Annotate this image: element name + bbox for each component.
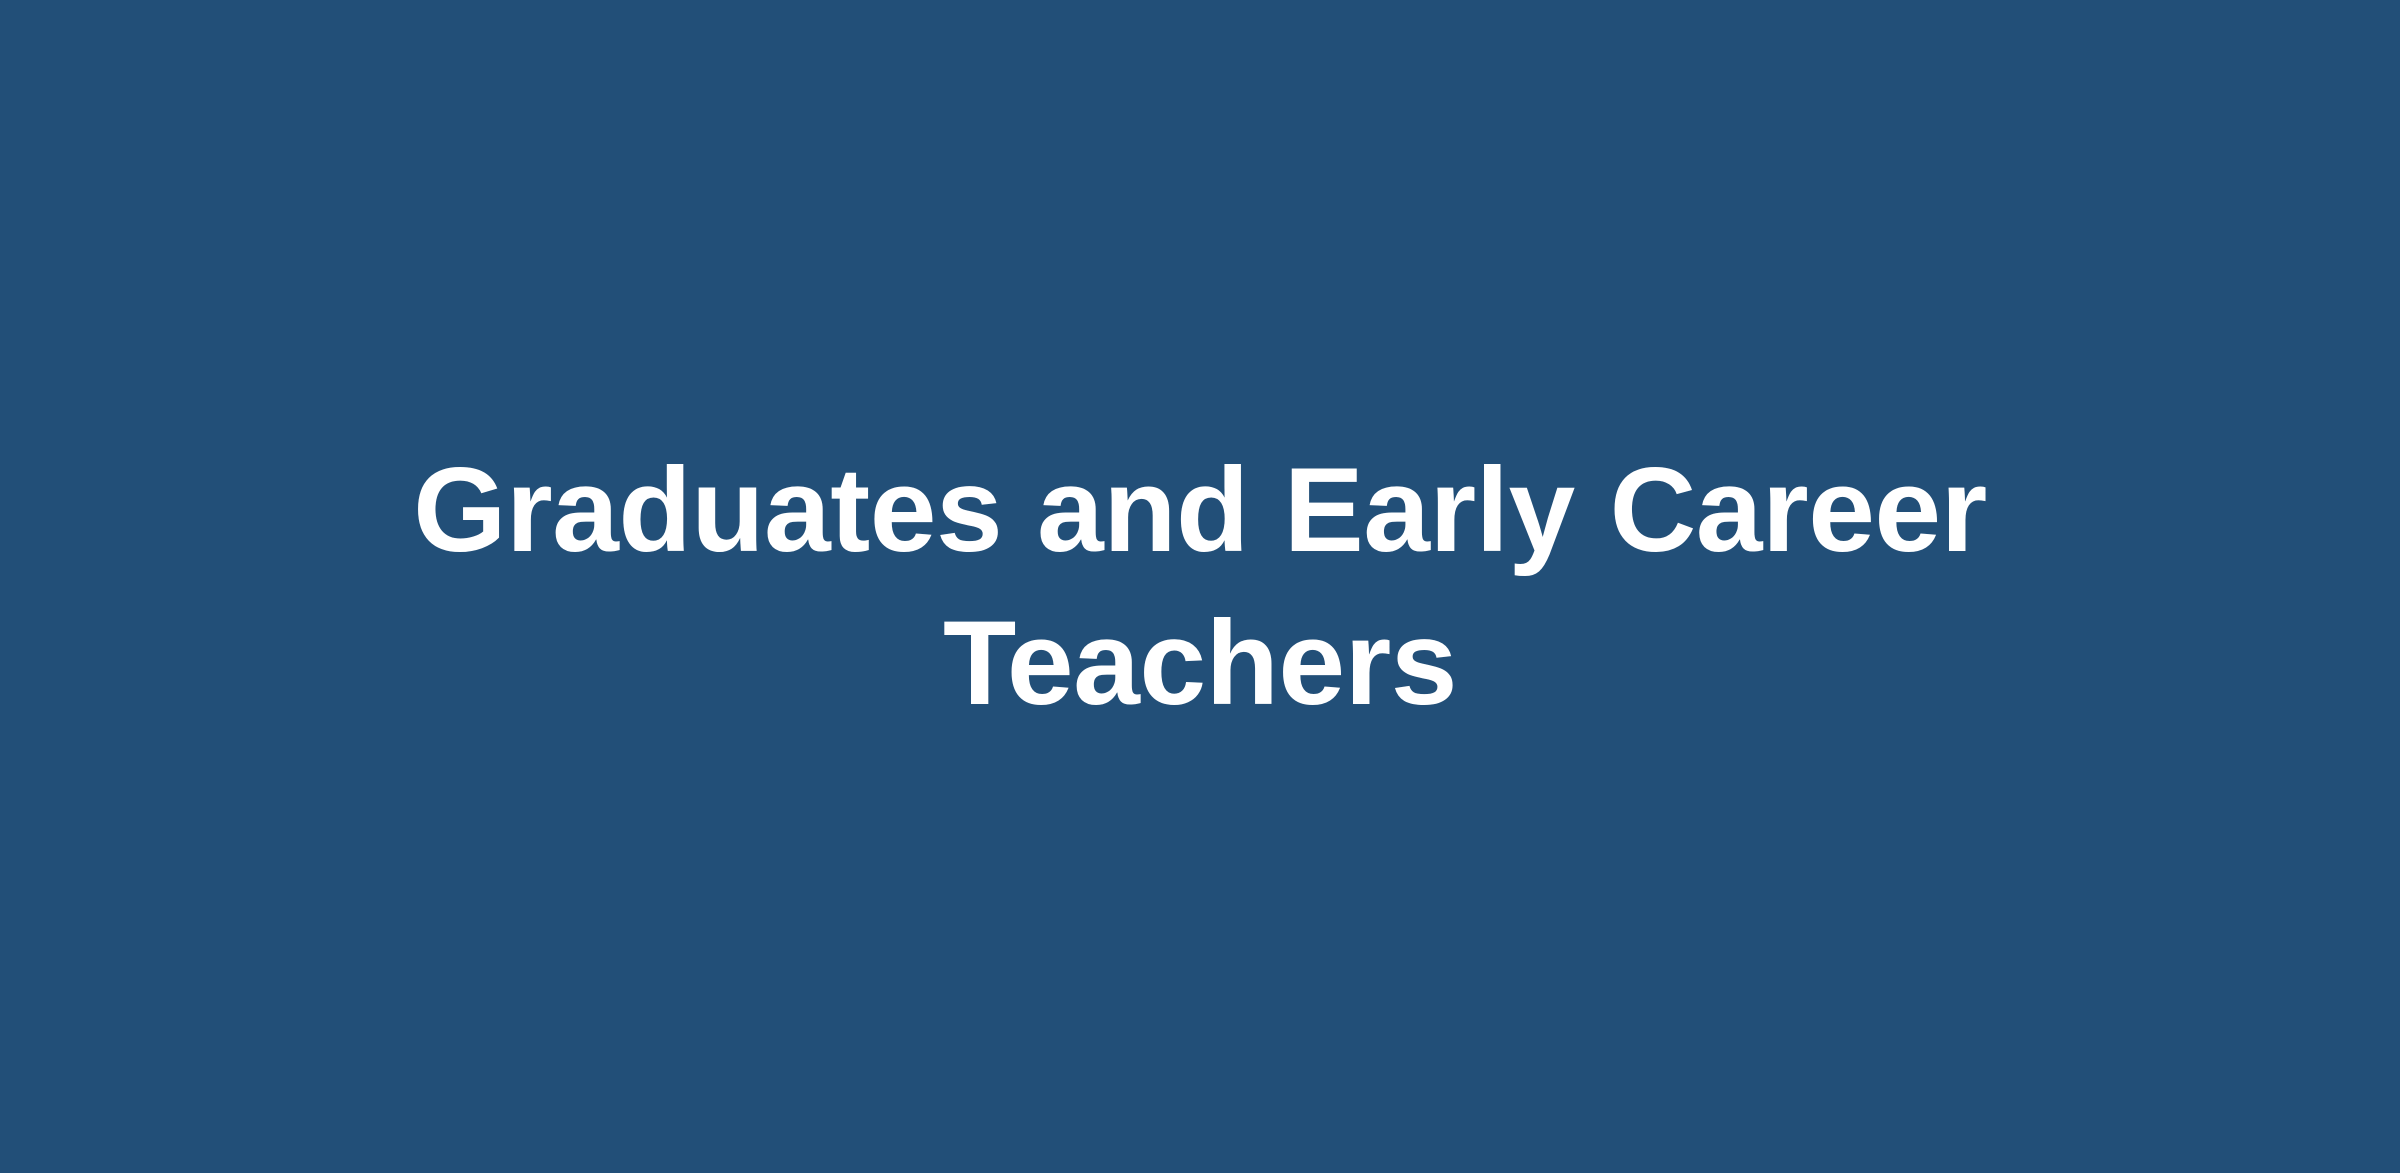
title-banner: Graduates and Early Career Teachers [0, 0, 2400, 1173]
title-banner-content: Graduates and Early Career Teachers [350, 434, 2050, 740]
page-title: Graduates and Early Career Teachers [350, 434, 2050, 740]
